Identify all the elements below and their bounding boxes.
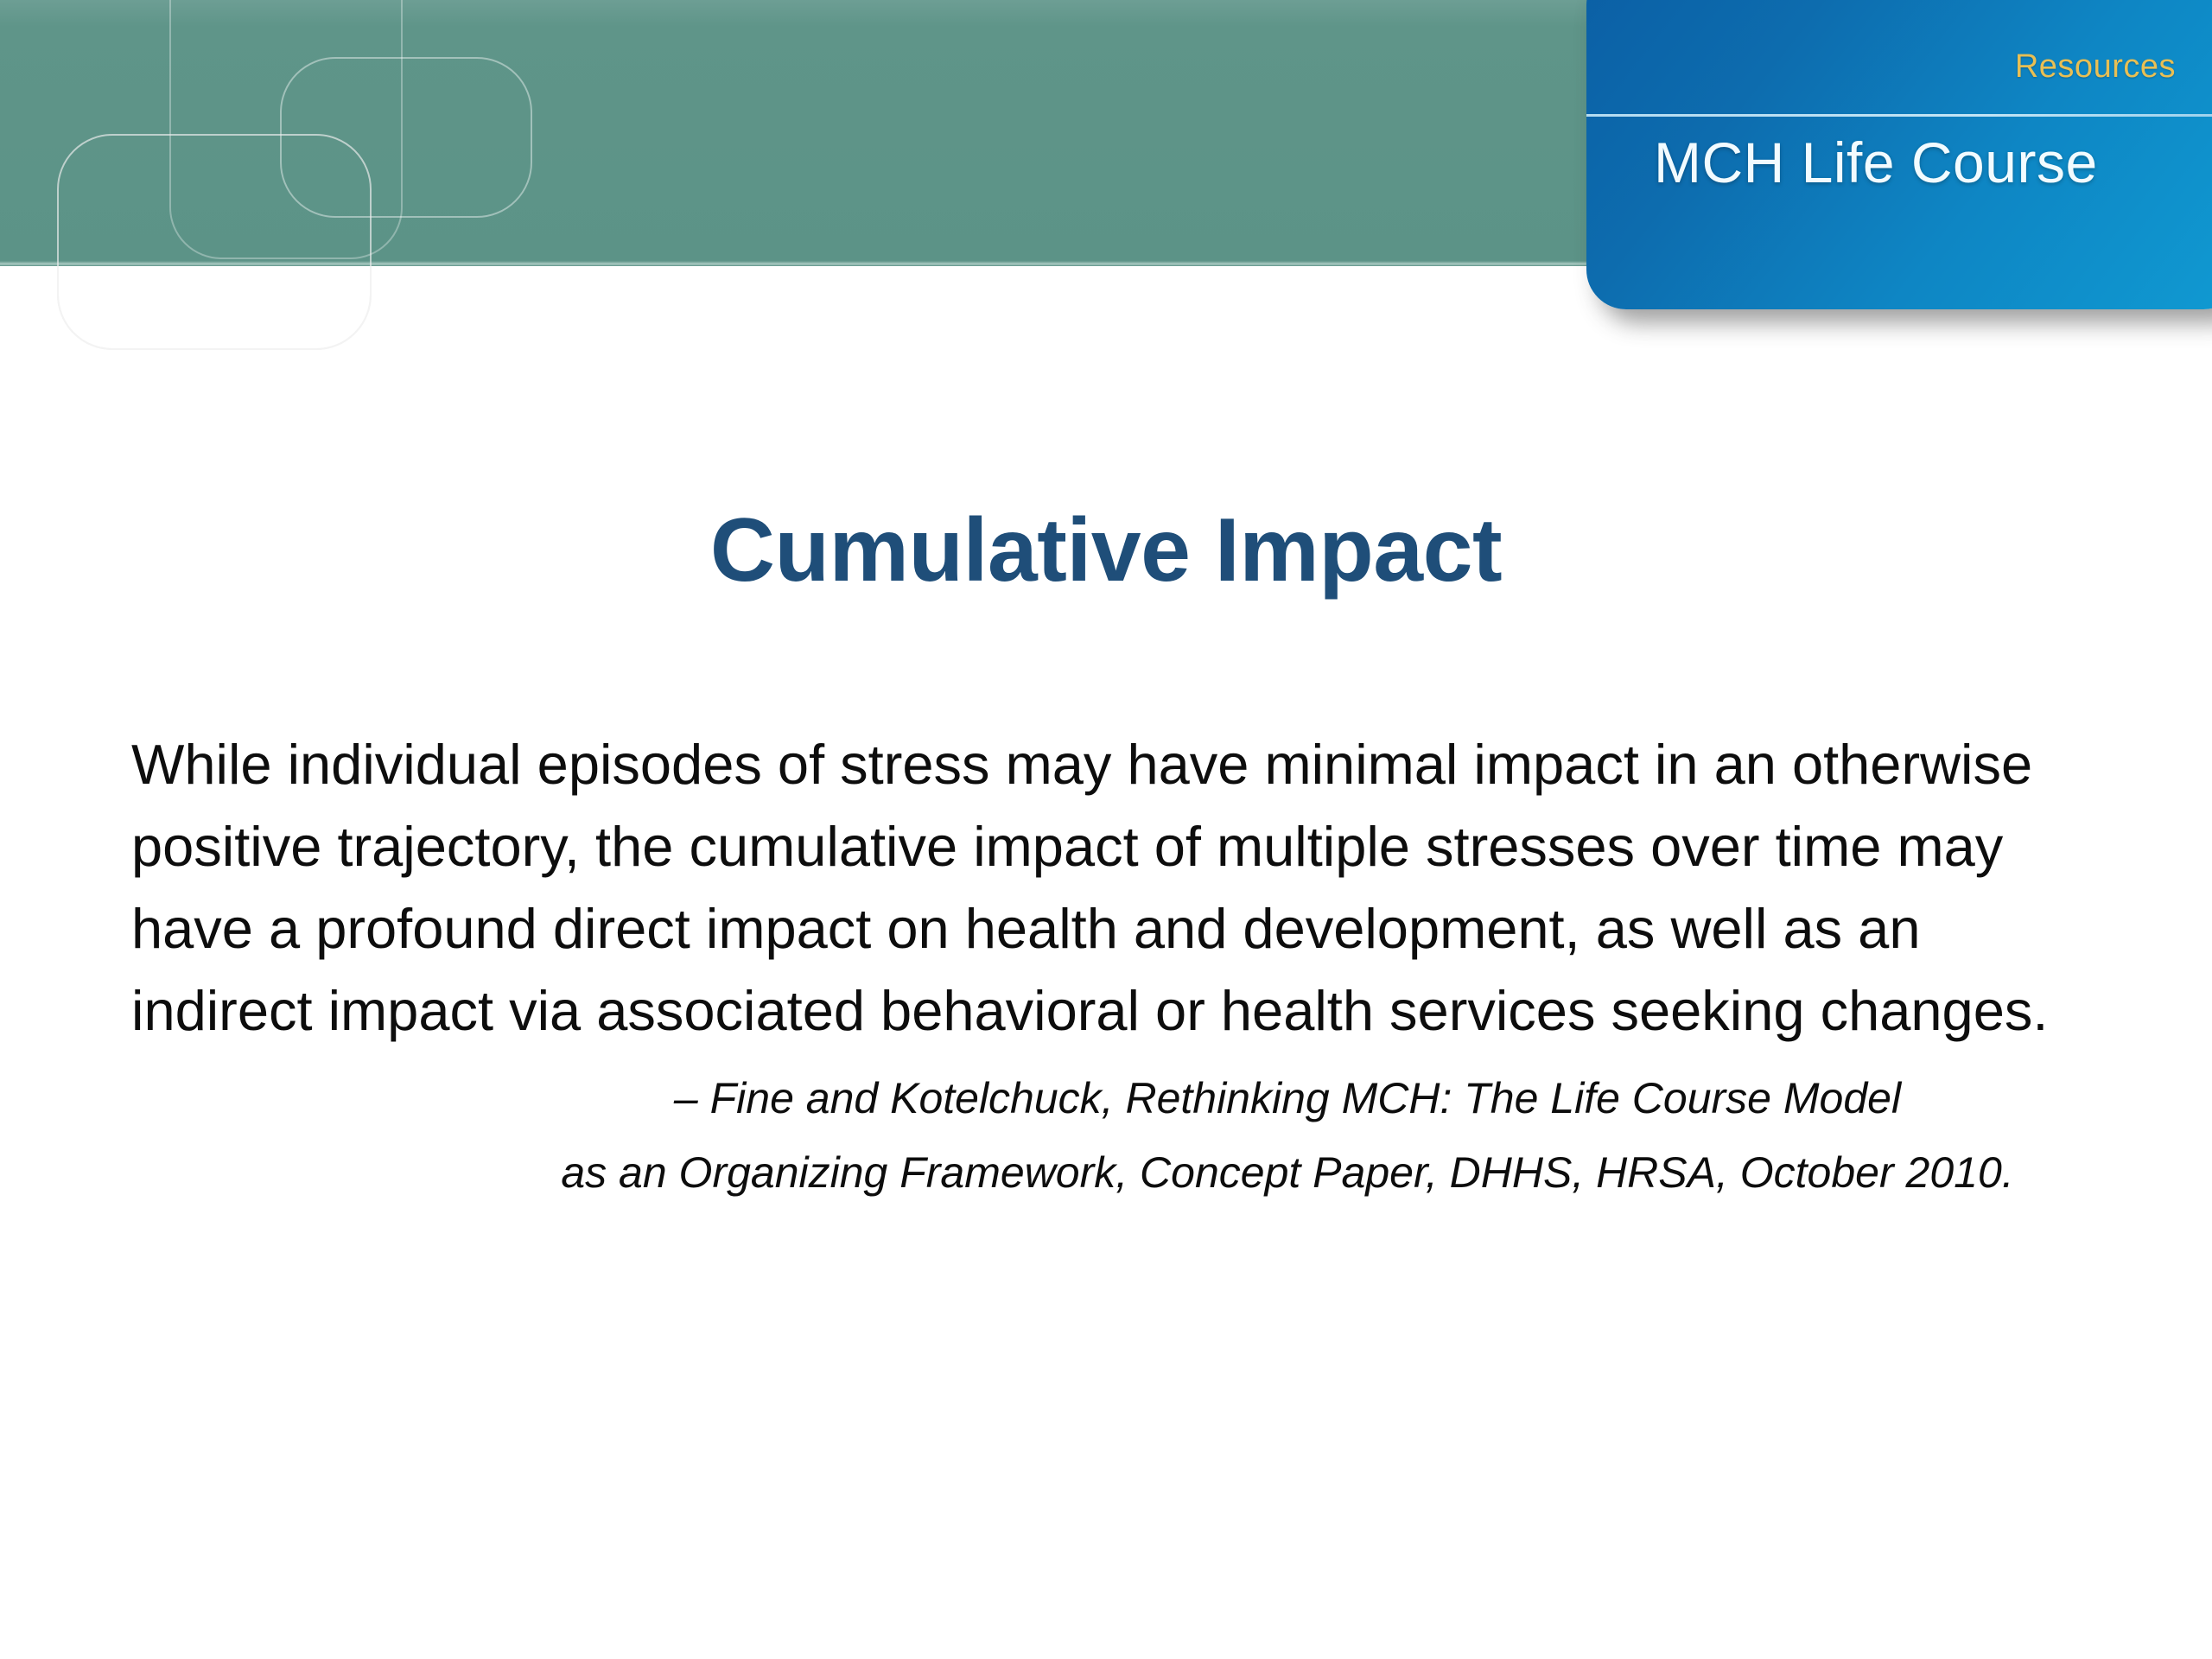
citation-line-2: as an Organizing Framework, Concept Pape… [484,1135,2091,1210]
slide-citation: – Fine and Kotelchuck, Rethinking MCH: T… [484,1061,2091,1210]
brand-eyebrow-label: Resources [2015,48,2176,86]
slide-title: Cumulative Impact [0,501,2212,600]
brand-divider-rule [1586,114,2212,117]
slide-body-paragraph: While individual episodes of stress may … [131,723,2055,1052]
decorative-rounded-rect-vertical [169,0,403,259]
slide-canvas: Resources MCH Life Course Cumulative Imp… [0,0,2212,1659]
citation-line-1: – Fine and Kotelchuck, Rethinking MCH: T… [484,1061,2091,1135]
decorative-rounded-rect-upper-right [280,57,532,218]
brand-logo-panel: Resources MCH Life Course [1586,0,2212,309]
brand-title-label: MCH Life Course [1654,130,2098,195]
